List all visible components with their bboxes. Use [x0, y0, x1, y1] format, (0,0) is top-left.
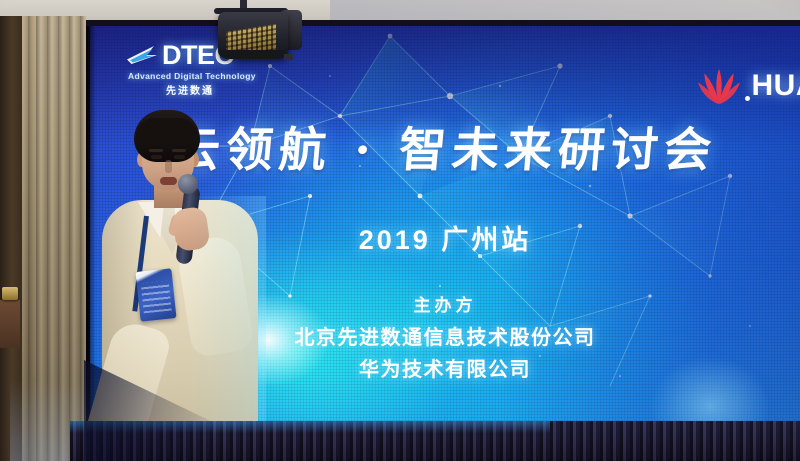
presenter-nose [165, 160, 172, 173]
presenter-hair-fringe [136, 118, 198, 142]
huawei-separator-dot [745, 96, 750, 101]
dtec-swoosh-icon [124, 43, 160, 67]
huawei-logo: HUA [697, 66, 800, 106]
presenter-eye-left [151, 155, 162, 159]
dtec-tagline: Advanced Digital Technology [128, 71, 304, 81]
presenter-eyebrow-right [172, 149, 186, 152]
huawei-flower-icon [697, 66, 741, 106]
stage-light-lip [220, 50, 286, 59]
presenter-eyebrow-left [149, 149, 163, 152]
huawei-wordmark: HUA [752, 71, 800, 101]
ceiling-stage-light [196, 0, 312, 70]
door-plate [0, 300, 20, 348]
conference-photo: DTEC Advanced Digital Technology 先进数通 HU… [0, 0, 800, 461]
presenter-mouth [160, 177, 177, 185]
presenter-eye-right [174, 155, 185, 159]
stage-light-foot [284, 54, 293, 60]
door-handle [2, 287, 18, 300]
dtec-chinese-name: 先进数通 [166, 82, 304, 97]
